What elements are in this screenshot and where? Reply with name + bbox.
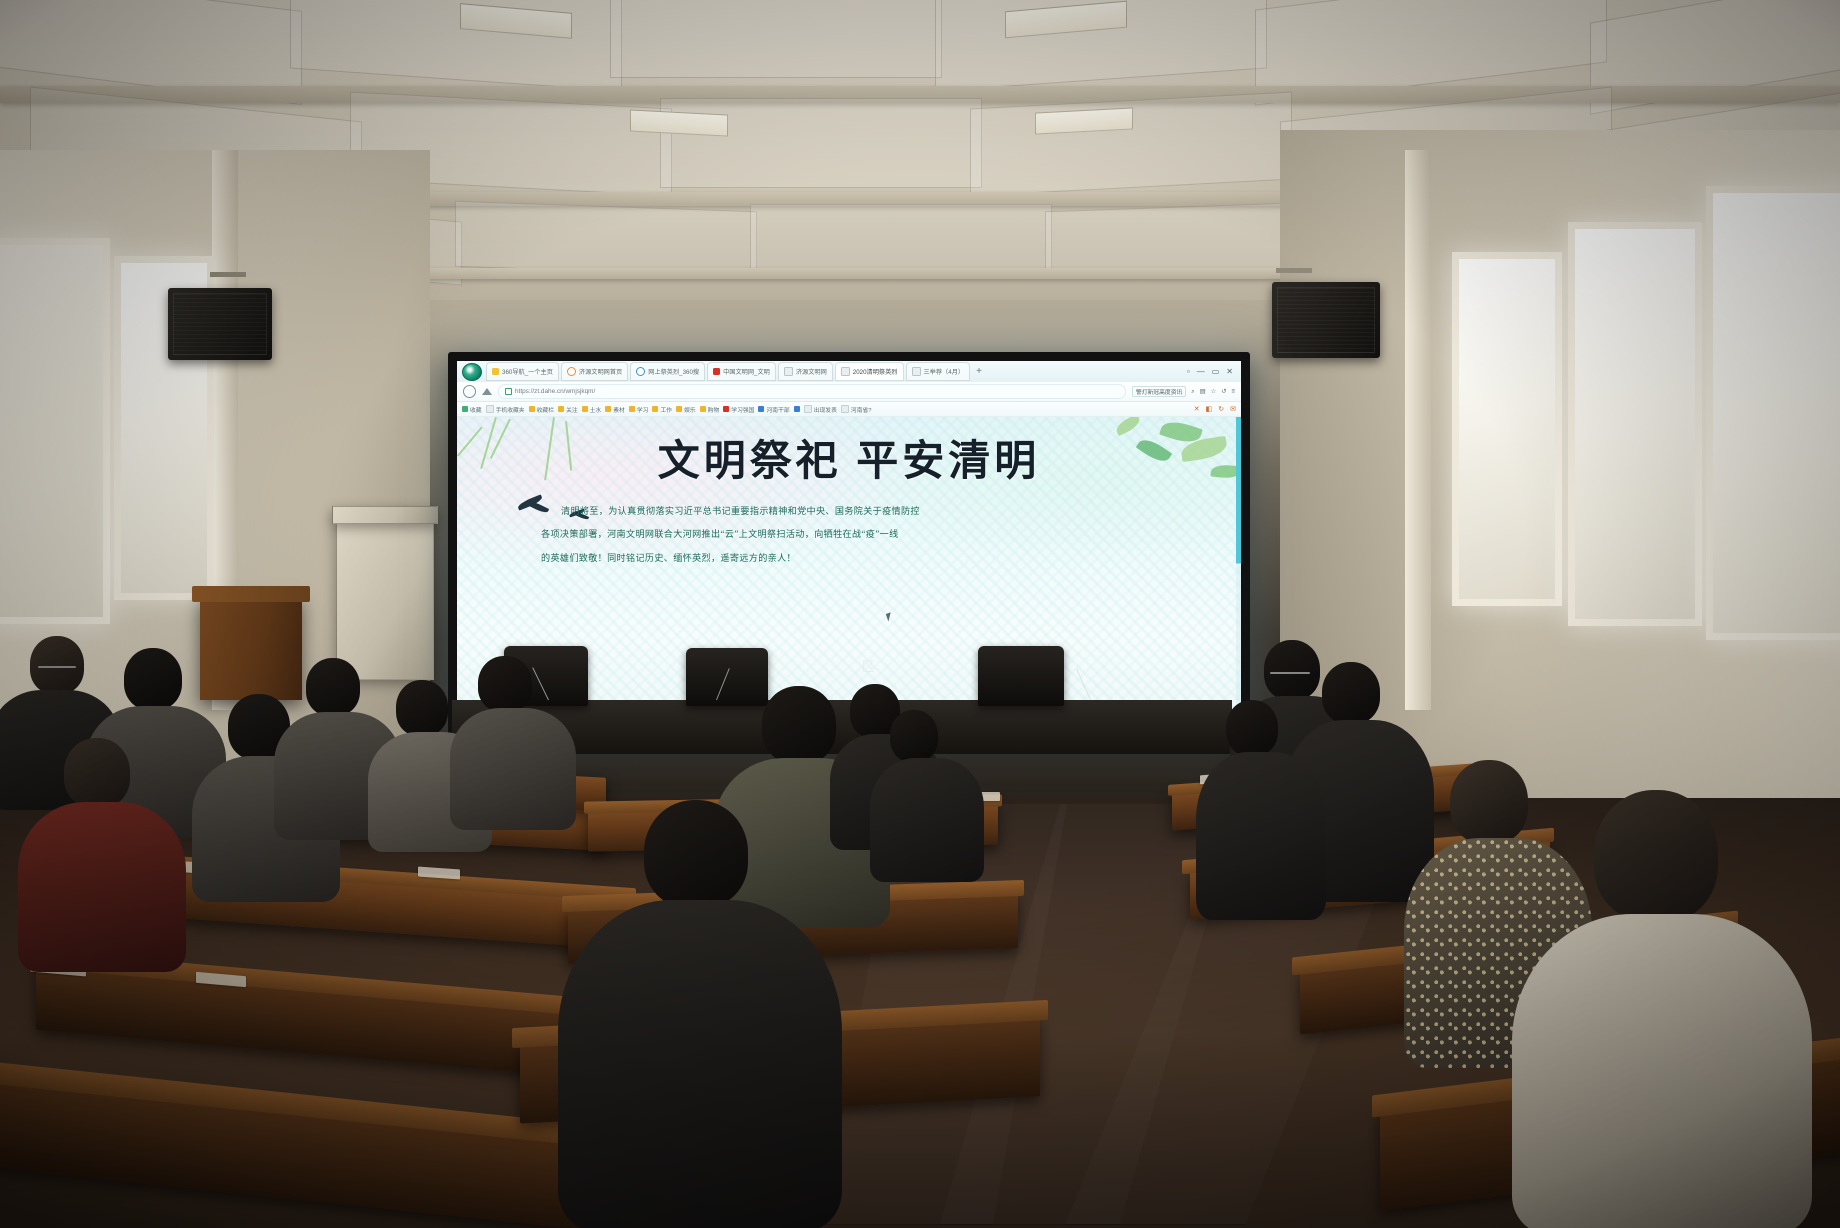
description-line: 清明将至，为认真贯彻落实习近平总书记重要指示精神和党中央、国务院关于疫情防控 — [541, 505, 1157, 517]
browser-tab-active[interactable]: 2020清明祭英烈 — [835, 362, 904, 381]
bookmark-icon — [723, 406, 729, 412]
folder-icon — [700, 406, 706, 412]
bookmark-label: 学习 — [637, 405, 649, 414]
mail-icon[interactable]: ✉ — [1230, 405, 1236, 413]
window-controls[interactable]: ▫ — ▭ ✕ — [1187, 367, 1238, 376]
bookmark-item[interactable]: 河南省? — [841, 405, 872, 414]
bookmark-item[interactable]: 素材 — [605, 405, 625, 414]
glasses-icon — [38, 666, 76, 668]
menu-icon[interactable]: ≡ — [1231, 388, 1235, 395]
minimize-window-button[interactable]: — — [1197, 367, 1205, 376]
collection-icon[interactable]: ▤ — [1200, 388, 1206, 395]
bookmark-label: 素材 — [613, 405, 625, 414]
bookmark-label: 学习强国 — [731, 405, 754, 414]
window-right-near — [1452, 252, 1562, 606]
presenter-chair — [978, 646, 1064, 706]
home-icon[interactable] — [482, 388, 492, 395]
bookmark-item[interactable]: 河南干部 — [758, 405, 789, 414]
covid-badge[interactable]: 警灯新冠高度资讯 — [1132, 386, 1186, 397]
bookmark-label: 购物 — [708, 405, 720, 414]
page-description: 清明将至，为认真贯彻落实习近平总书记重要指示精神和党中央、国务院关于疫情防控 各… — [457, 505, 1241, 564]
head-table-label: 区 — [862, 656, 880, 675]
folder-icon — [676, 406, 682, 412]
tab-label: 360导航_一个主页 — [502, 367, 553, 376]
restore-window-button[interactable]: ▫ — [1187, 367, 1190, 376]
favicon-orange-icon — [567, 367, 576, 376]
close-ad-icon[interactable]: ✕ — [1194, 405, 1200, 413]
bookmark-label: 手机收藏夹 — [496, 405, 525, 414]
tab-label: 网上祭英烈_360搜 — [648, 367, 699, 376]
bookmark-icon — [486, 405, 494, 413]
browser-tab[interactable]: 三举荐（4月） — [906, 362, 971, 381]
favorites-icon[interactable]: ☆ — [1211, 388, 1217, 395]
shield-icon[interactable]: ◧ — [1206, 405, 1213, 413]
tab-label: 三举荐（4月） — [924, 367, 965, 376]
bookmark-label: 关注 — [566, 405, 578, 414]
conference-room-scene: 360导航_一个主页 济源文明网首页 网上祭英烈_360搜 中国文明网_文明 济… — [0, 0, 1840, 1228]
tab-label: 济源文明网首页 — [579, 367, 622, 376]
bookmark-item[interactable]: 学习 — [629, 405, 649, 414]
speaker-left — [168, 288, 272, 360]
new-tab-button[interactable]: + — [976, 366, 982, 377]
bookmark-item[interactable]: 工作 — [652, 405, 672, 414]
reload-icon[interactable] — [463, 385, 476, 398]
folder-icon — [582, 406, 588, 412]
folder-icon — [605, 406, 611, 412]
history-icon[interactable]: ↺ — [1221, 388, 1226, 395]
bookmark-icon — [462, 406, 468, 412]
bookmark-label: 出现发表 — [814, 405, 837, 414]
bookmark-icon — [804, 405, 812, 413]
folder-icon — [558, 406, 564, 412]
bookmark-label: 河南省? — [851, 405, 872, 414]
browser-logo-icon — [462, 363, 482, 381]
favicon-red-icon — [713, 368, 720, 375]
bookmark-label: 土水 — [590, 405, 602, 414]
lock-icon — [505, 388, 512, 395]
cabinet-top-panel — [332, 506, 438, 524]
cabinet-unit — [336, 516, 434, 680]
tab-label: 中国文明网_文明 — [723, 367, 770, 376]
mouse-cursor-icon — [886, 612, 893, 621]
window-left-far — [0, 238, 110, 624]
bookmark-label: 河南干部 — [766, 405, 789, 414]
bookmark-item[interactable]: 出现发表 — [804, 405, 837, 414]
refresh-icon[interactable]: ↻ — [1218, 405, 1224, 413]
folder-icon — [529, 406, 535, 412]
bookmark-label: 工作 — [660, 405, 672, 414]
favicon-grey-icon — [784, 367, 793, 376]
browser-tab[interactable]: 360导航_一个主页 — [486, 362, 559, 381]
window-right-mid — [1568, 222, 1702, 626]
glasses-icon — [1270, 672, 1310, 674]
bookmark-icon — [794, 406, 800, 412]
address-bar-actions[interactable]: 警灯新冠高度资讯 ⌕ ▤ ☆ ↺ ≡ — [1132, 386, 1235, 397]
bookmark-item[interactable]: 收藏 — [462, 405, 482, 414]
bookmark-item[interactable] — [794, 406, 800, 412]
speaker-right — [1272, 282, 1380, 358]
search-icon[interactable]: ⌕ — [1191, 388, 1194, 396]
close-window-button[interactable]: ✕ — [1226, 367, 1233, 376]
bookmark-item[interactable]: 收藏栏 — [529, 405, 554, 414]
podium-top — [192, 586, 310, 602]
favicon-grey-icon — [912, 367, 921, 376]
favicon-blue-icon — [636, 367, 645, 376]
page-hero: 文明祭祀 平安清明 清明将至，为认真贯彻落实习近平总书记重要指示精神和党中央、国… — [457, 417, 1241, 564]
page-title: 文明祭祀 平安清明 — [457, 441, 1241, 483]
bookmark-label: 收藏 — [470, 405, 482, 414]
folder-icon — [652, 406, 658, 412]
bookmark-icon — [841, 405, 849, 413]
bookmark-item[interactable]: 手机收藏夹 — [486, 405, 525, 414]
bookmark-item[interactable]: 娱乐 — [676, 405, 696, 414]
description-line: 的英雄们致敬！同时铭记历史、缅怀英烈，遥寄远方的亲人！ — [541, 552, 1157, 564]
browser-tab[interactable]: 济源文明网首页 — [561, 362, 628, 381]
bookmark-label: 娱乐 — [684, 405, 696, 414]
bookmark-item[interactable]: 购物 — [700, 405, 720, 414]
browser-tab[interactable]: 济源文明网 — [778, 362, 833, 381]
maximize-window-button[interactable]: ▭ — [1212, 367, 1220, 376]
tab-label: 济源文明网 — [796, 367, 827, 376]
browser-tab[interactable]: 中国文明网_文明 — [707, 362, 776, 381]
description-line: 各项决策部署，河南文明网联合大河网推出“云”上文明祭扫活动，向牺牲在战“疫”一线 — [541, 528, 1157, 540]
bookmark-item[interactable]: 关注 — [558, 405, 578, 414]
window-right-far — [1706, 186, 1840, 640]
browser-extension-icons[interactable]: ✕ ◧ ↻ ✉ — [1194, 405, 1236, 413]
bookmark-icon — [758, 406, 764, 412]
wall-pillar-right — [1405, 150, 1431, 710]
bookmark-label: 收藏栏 — [537, 405, 554, 414]
favicon-yellow-icon — [492, 368, 499, 375]
bookmark-item[interactable]: 土水 — [582, 405, 602, 414]
bookmark-item[interactable]: 学习强国 — [723, 405, 754, 414]
presenter-chair — [686, 648, 768, 706]
bookmarks-bar[interactable]: 收藏 手机收藏夹 收藏栏 关注 土水 素材 学习 工作 娱乐 购物 学习强国 河… — [457, 402, 1241, 417]
favicon-grey-icon — [841, 367, 850, 376]
url-text: https://zt.dahe.cn/wmjsjkqm/ — [515, 388, 595, 395]
folder-icon — [629, 406, 635, 412]
browser-tab[interactable]: 网上祭英烈_360搜 — [630, 362, 705, 381]
podium — [200, 596, 302, 700]
url-input[interactable]: https://zt.dahe.cn/wmjsjkqm/ — [498, 384, 1126, 399]
browser-address-bar[interactable]: https://zt.dahe.cn/wmjsjkqm/ 警灯新冠高度资讯 ⌕ … — [457, 382, 1241, 402]
tab-label: 2020清明祭英烈 — [853, 367, 898, 376]
browser-tab-bar[interactable]: 360导航_一个主页 济源文明网首页 网上祭英烈_360搜 中国文明网_文明 济… — [457, 361, 1241, 382]
